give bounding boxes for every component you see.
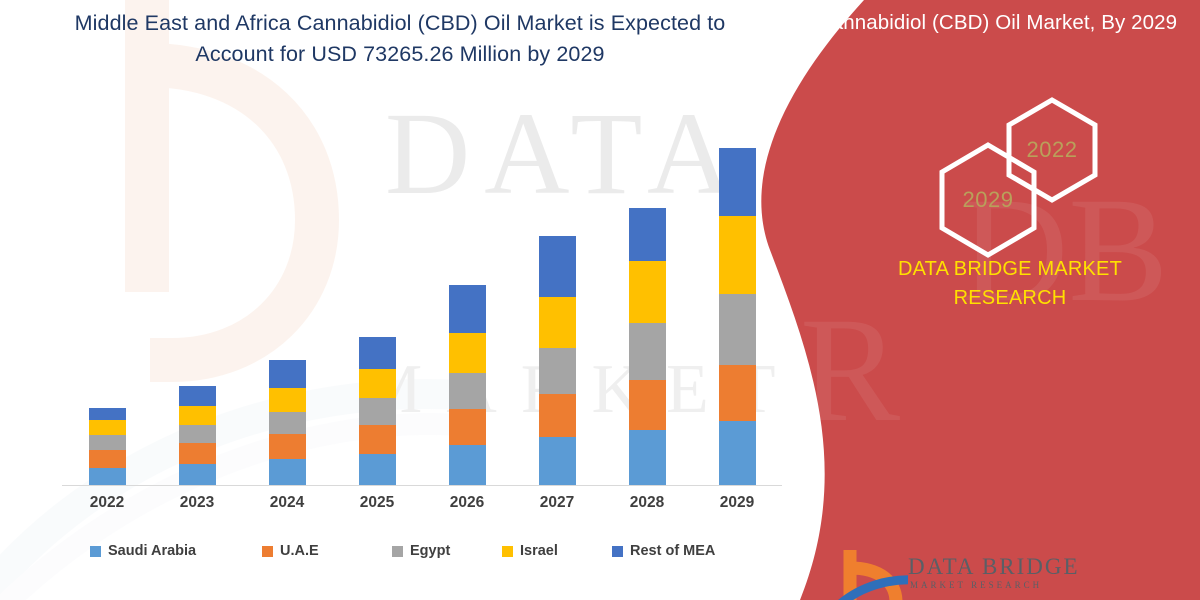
bar-segment-egypt-2026[interactable] [449,373,486,409]
bar-segment-u-a-e-2023[interactable] [179,443,216,464]
bar-segment-u-a-e-2028[interactable] [629,380,666,430]
footer-logo: DATA BRIDGE MARKET RESEARCH [838,550,1098,600]
bar-segment-rest-of-mea-2022[interactable] [89,408,126,420]
brand-line-1: DATA BRIDGE MARKET [860,255,1160,284]
bar-segment-saudi-arabia-2028[interactable] [629,430,666,486]
x-axis-labels: 20222023202420252026202720282029 [62,494,782,520]
bar-group-2024[interactable] [269,360,306,486]
right-panel-title: Cannabidiol (CBD) Oil Market, By 2029 [812,8,1182,38]
bar-segment-egypt-2024[interactable] [269,412,306,434]
legend-item-israel[interactable]: Israel [502,543,558,559]
bar-segment-rest-of-mea-2027[interactable] [539,236,576,297]
chart-title: Middle East and Africa Cannabidiol (CBD)… [40,8,760,69]
bar-segment-rest-of-mea-2028[interactable] [629,208,666,261]
bar-segment-u-a-e-2026[interactable] [449,409,486,445]
bar-segment-rest-of-mea-2029[interactable] [719,148,756,216]
bar-group-2023[interactable] [179,386,216,486]
bar-group-2029[interactable] [719,148,756,486]
bar-segment-egypt-2022[interactable] [89,435,126,450]
bar-segment-israel-2029[interactable] [719,216,756,294]
brand-name: DATA BRIDGE MARKET RESEARCH [860,255,1160,313]
legend-swatch-icon [612,546,623,557]
hexagon-2029: 2029 [935,140,1041,260]
infographic-canvas: DATA BRIDGE MARKET RESEARCH Middle East … [0,0,1200,600]
bar-segment-u-a-e-2024[interactable] [269,434,306,459]
logo-subtitle: MARKET RESEARCH [910,580,1042,590]
x-axis-label-2022: 2022 [62,494,152,512]
bar-group-2027[interactable] [539,236,576,486]
plot-area [62,100,782,486]
x-axis-line [62,485,782,486]
legend-label: Saudi Arabia [108,543,196,559]
legend-label: U.A.E [280,543,319,559]
bar-segment-saudi-arabia-2024[interactable] [269,459,306,486]
bar-segment-israel-2025[interactable] [359,369,396,398]
bar-segment-saudi-arabia-2025[interactable] [359,454,396,486]
bar-segment-saudi-arabia-2029[interactable] [719,421,756,486]
legend-label: Israel [520,543,558,559]
bar-segment-egypt-2023[interactable] [179,425,216,443]
bar-segment-rest-of-mea-2025[interactable] [359,337,396,369]
bar-segment-rest-of-mea-2024[interactable] [269,360,306,388]
bar-series-container [62,100,782,486]
bar-segment-israel-2028[interactable] [629,261,666,323]
legend-swatch-icon [90,546,101,557]
bar-segment-u-a-e-2027[interactable] [539,394,576,437]
bar-segment-israel-2027[interactable] [539,297,576,348]
bar-group-2026[interactable] [449,285,486,486]
bar-segment-egypt-2028[interactable] [629,323,666,380]
bar-group-2028[interactable] [629,208,666,486]
bar-segment-saudi-arabia-2023[interactable] [179,464,216,486]
hexagon-2029-label: 2029 [935,187,1041,213]
legend-swatch-icon [502,546,513,557]
bar-segment-egypt-2029[interactable] [719,294,756,365]
x-axis-label-2027: 2027 [512,494,602,512]
bar-segment-egypt-2025[interactable] [359,398,396,425]
x-axis-label-2026: 2026 [422,494,512,512]
legend-swatch-icon [262,546,273,557]
legend-label: Egypt [410,543,450,559]
logo-title: DATA BRIDGE [908,554,1080,580]
bar-segment-u-a-e-2022[interactable] [89,450,126,468]
brand-line-2: RESEARCH [860,284,1160,313]
chart-legend: Saudi ArabiaU.A.EEgyptIsraelRest of MEA [62,538,782,564]
logo-bridge-icon [838,550,908,600]
x-axis-label-2028: 2028 [602,494,692,512]
bar-group-2022[interactable] [89,408,126,486]
bar-segment-israel-2022[interactable] [89,420,126,435]
legend-item-saudi-arabia[interactable]: Saudi Arabia [90,543,196,559]
legend-item-u-a-e[interactable]: U.A.E [262,543,319,559]
x-axis-label-2024: 2024 [242,494,332,512]
bar-segment-israel-2024[interactable] [269,388,306,412]
bar-group-2025[interactable] [359,337,396,486]
bar-segment-israel-2023[interactable] [179,406,216,425]
x-axis-label-2023: 2023 [152,494,242,512]
bar-segment-israel-2026[interactable] [449,333,486,373]
legend-label: Rest of MEA [630,543,715,559]
bar-segment-u-a-e-2029[interactable] [719,365,756,421]
bar-segment-rest-of-mea-2023[interactable] [179,386,216,406]
x-axis-label-2025: 2025 [332,494,422,512]
legend-swatch-icon [392,546,403,557]
legend-item-rest-of-mea[interactable]: Rest of MEA [612,543,715,559]
legend-item-egypt[interactable]: Egypt [392,543,450,559]
bar-segment-u-a-e-2025[interactable] [359,425,396,454]
bar-segment-egypt-2027[interactable] [539,348,576,394]
bar-segment-rest-of-mea-2026[interactable] [449,285,486,333]
bar-segment-saudi-arabia-2026[interactable] [449,445,486,486]
bar-segment-saudi-arabia-2022[interactable] [89,468,126,486]
bar-segment-saudi-arabia-2027[interactable] [539,437,576,486]
